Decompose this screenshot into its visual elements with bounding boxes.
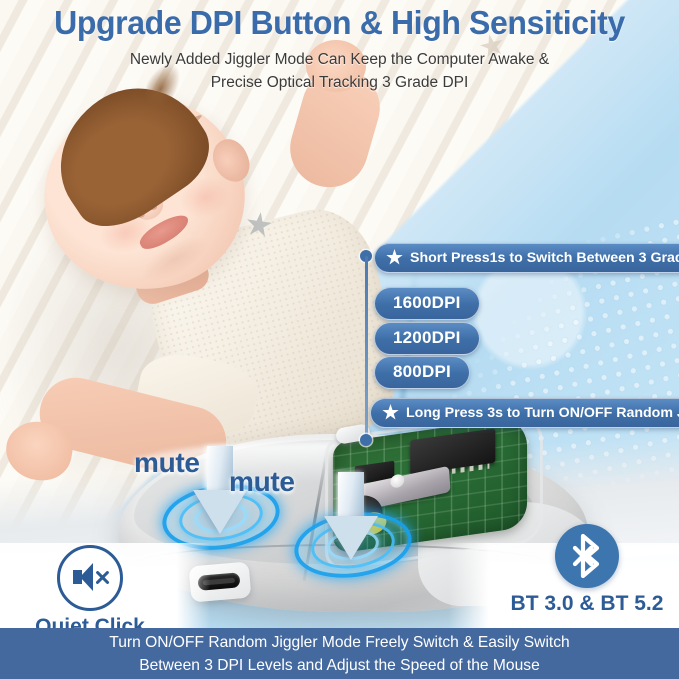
product-feature-image: Upgrade DPI Button & High Sensiticity Ne… xyxy=(0,0,679,679)
callout-long-press[interactable]: Long Press 3s to Turn ON/OFF Random Jigg… xyxy=(370,398,679,428)
dpi-pill-1600[interactable]: 1600DPI xyxy=(374,287,480,320)
mute-label-left: mute xyxy=(134,447,200,479)
dpi-pill-1200[interactable]: 1200DPI xyxy=(374,322,480,355)
banner-line-2: Between 3 DPI Levels and Adjust the Spee… xyxy=(139,654,540,677)
page-title: Upgrade DPI Button & High Sensiticity xyxy=(10,4,669,42)
mute-cross xyxy=(93,568,111,586)
star-icon xyxy=(386,249,403,266)
bottom-banner: Turn ON/OFF Random Jiggler Mode Freely S… xyxy=(0,628,679,679)
callout-short-press[interactable]: Short Press1s to Switch Between 3 Grade … xyxy=(374,243,679,273)
page-subtitle: Newly Added Jiggler Mode Can Keep the Co… xyxy=(0,48,679,94)
speaker-mute-icon xyxy=(57,545,123,611)
subtitle-line-1: Newly Added Jiggler Mode Can Keep the Co… xyxy=(0,48,679,71)
connector-dot-bottom xyxy=(360,434,372,446)
speaker-cone xyxy=(80,563,93,591)
dpi-pill-800-label: 800DPI xyxy=(393,362,451,382)
bluetooth-icon xyxy=(555,524,619,588)
bluetooth-glyph xyxy=(555,524,619,588)
banner-line-1: Turn ON/OFF Random Jiggler Mode Freely S… xyxy=(109,631,569,654)
callout-long-press-label: Long Press 3s to Turn ON/OFF Random Jigg… xyxy=(406,405,679,421)
feature-quiet-click: Quiet Click xyxy=(5,545,175,639)
mute-label-right: mute xyxy=(229,466,295,498)
dpi-pill-800[interactable]: 800DPI xyxy=(374,356,470,389)
callout-short-press-label: Short Press1s to Switch Between 3 Grade … xyxy=(410,250,679,266)
connector-stem xyxy=(365,256,368,440)
feature-bluetooth-label: BT 3.0 & BT 5.2 xyxy=(502,592,672,616)
star-icon xyxy=(382,404,399,421)
dpi-pill-1200-label: 1200DPI xyxy=(393,328,461,348)
dpi-pill-1600-label: 1600DPI xyxy=(393,293,461,313)
subtitle-line-2: Precise Optical Tracking 3 Grade DPI xyxy=(0,71,679,94)
feature-bluetooth: BT 3.0 & BT 5.2 xyxy=(502,524,672,616)
